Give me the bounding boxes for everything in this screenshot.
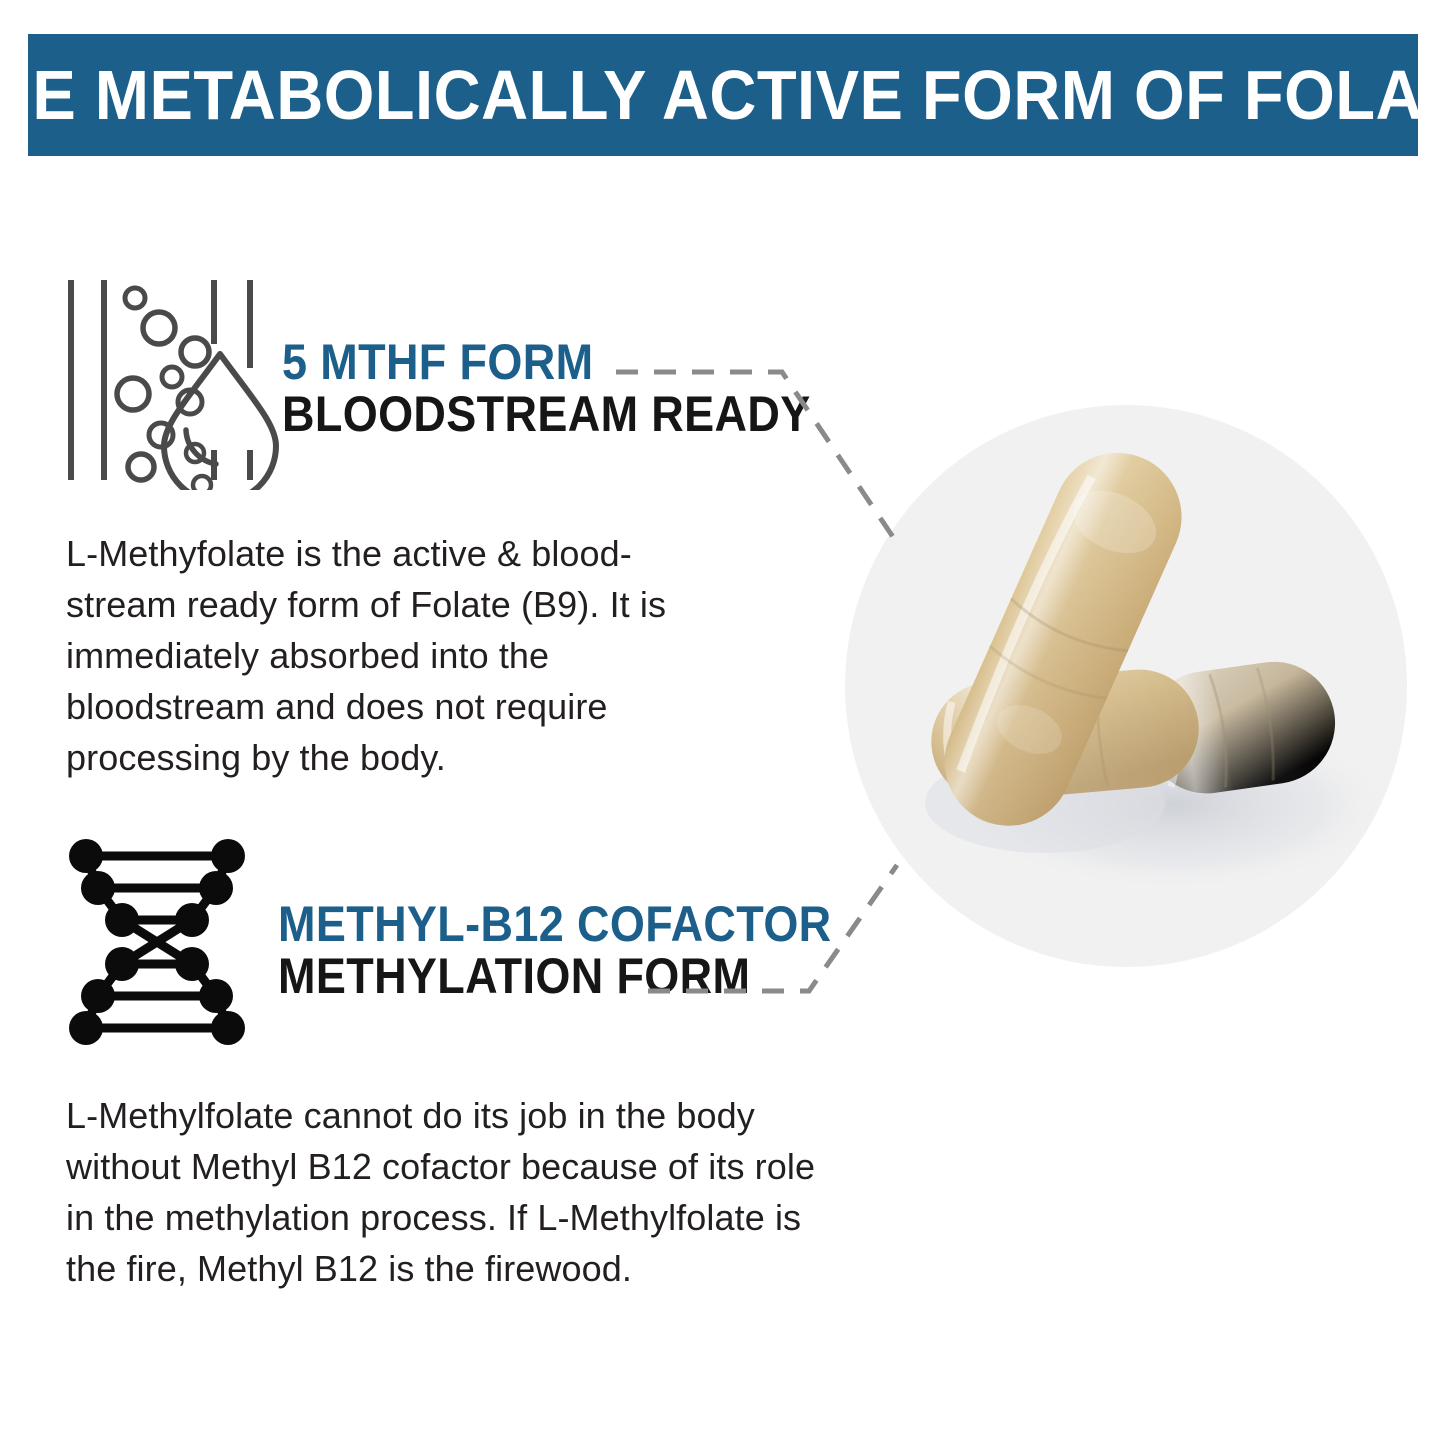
page-title: THE METABOLICALLY ACTIVE FORM OF FOLATE	[0, 60, 1445, 130]
body-text-b12: L-Methylfolate cannot do its job in the …	[66, 1090, 856, 1294]
header-banner: THE METABOLICALLY ACTIVE FORM OF FOLATE	[28, 34, 1418, 156]
heading-primary-b12: METHYL-B12 COFACTOR	[278, 898, 832, 950]
bloodstream-droplet-icon	[62, 272, 284, 490]
body-text-mthf: L-Methyfolate is the active & blood- str…	[66, 528, 686, 784]
heading-secondary-b12: METHYLATION FORM	[278, 950, 832, 1002]
capsules-photo	[845, 405, 1407, 967]
dna-helix-icon	[62, 838, 252, 1046]
section-heading-mthf: 5 MTHF FORM BLOODSTREAM READY	[282, 336, 869, 440]
heading-primary-mthf: 5 MTHF FORM	[282, 336, 811, 388]
section-heading-b12: METHYL-B12 COFACTOR METHYLATION FORM	[278, 898, 893, 1002]
capsules-photo-art	[845, 405, 1407, 967]
infographic-page: THE METABOLICALLY ACTIVE FORM OF FOLATE	[0, 0, 1445, 1445]
heading-secondary-mthf: BLOODSTREAM READY	[282, 388, 811, 440]
